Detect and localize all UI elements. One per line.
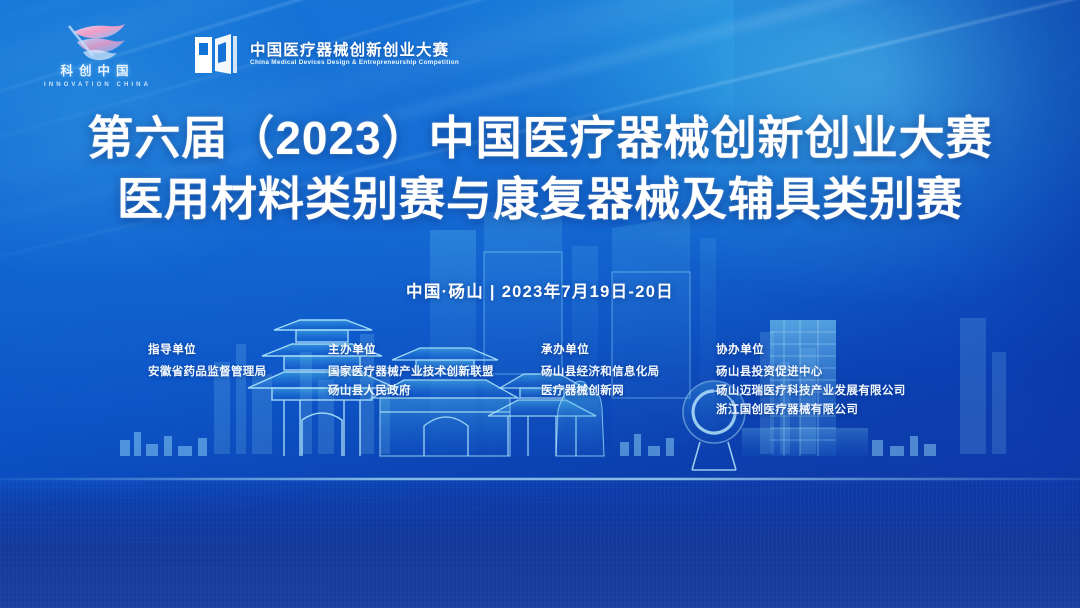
organizer-heading: 承办单位 <box>541 344 716 358</box>
ground-texture <box>0 480 1080 608</box>
innovation-china-cn: 科创中国 <box>61 65 135 78</box>
event-date-location: 中国·砀山 | 2023年7月19日-20日 <box>406 278 674 302</box>
organizer-list: 砀山县经济和信息化局 医疗器械创新网 <box>541 365 716 400</box>
logo-bar: 科创中国 INNOVATION CHINA 中国医疗器械创新创业大赛 China… <box>44 22 459 88</box>
banner-poster: 科创中国 INNOVATION CHINA 中国医疗器械创新创业大赛 China… <box>0 0 1080 608</box>
organizer-list: 安徽省药品监督管理局 <box>148 365 328 381</box>
competition-logo-en: China Medical Devices Design & Entrepren… <box>250 60 459 66</box>
organizer-item: 砀山县经济和信息化局 <box>541 365 716 381</box>
title-line-1: 第六届（2023）中国医疗器械创新创业大赛 <box>0 108 1080 169</box>
organizer-column-guidance: 指导单位 安徽省药品监督管理局 <box>148 344 328 381</box>
organizer-item: 砀山县人民政府 <box>328 384 541 400</box>
organizer-item: 医疗器械创新网 <box>541 384 716 400</box>
organizer-column-host: 主办单位 国家医疗器械产业技术创新联盟 砀山县人民政府 <box>328 344 541 400</box>
organizer-list: 国家医疗器械产业技术创新联盟 砀山县人民政府 <box>328 365 541 400</box>
page-title: 第六届（2023）中国医疗器械创新创业大赛 医用材料类别赛与康复器械及辅具类别赛 <box>0 108 1080 229</box>
organizer-item: 国家医疗器械产业技术创新联盟 <box>328 365 541 381</box>
innovation-china-logo: 科创中国 INNOVATION CHINA <box>44 22 151 88</box>
innovation-china-en: INNOVATION CHINA <box>44 82 151 88</box>
organizer-item: 砀山迈瑞医疗科技产业发展有限公司 <box>716 384 966 400</box>
competition-logo: 中国医疗器械创新创业大赛 China Medical Devices Desig… <box>193 33 459 77</box>
organizer-column-organizer: 承办单位 砀山县经济和信息化局 医疗器械创新网 <box>541 344 716 400</box>
open-door-icon <box>193 33 239 77</box>
organizer-list: 砀山县投资促进中心 砀山迈瑞医疗科技产业发展有限公司 浙江国创医疗器械有限公司 <box>716 365 966 419</box>
organizer-columns: 指导单位 安徽省药品监督管理局 主办单位 国家医疗器械产业技术创新联盟 砀山县人… <box>148 344 966 418</box>
organizer-heading: 指导单位 <box>148 344 328 358</box>
organizer-item: 浙江国创医疗器械有限公司 <box>716 403 966 419</box>
organizer-heading: 主办单位 <box>328 344 541 358</box>
event-date-row: 中国·砀山 | 2023年7月19日-20日 <box>0 278 1080 302</box>
organizer-item: 砀山县投资促进中心 <box>716 365 966 381</box>
competition-logo-zh: 中国医疗器械创新创业大赛 <box>250 43 459 59</box>
organizer-column-coorganizer: 协办单位 砀山县投资促进中心 砀山迈瑞医疗科技产业发展有限公司 浙江国创医疗器械… <box>716 344 966 418</box>
organizer-heading: 协办单位 <box>716 344 966 358</box>
organizer-item: 安徽省药品监督管理局 <box>148 365 328 381</box>
title-line-2: 医用材料类别赛与康复器械及辅具类别赛 <box>0 169 1080 230</box>
phoenix-bird-icon <box>67 22 129 62</box>
